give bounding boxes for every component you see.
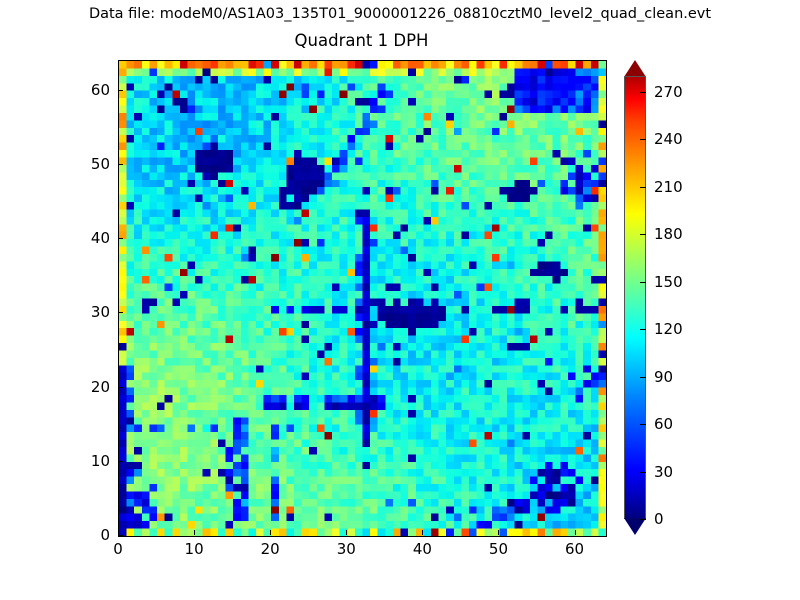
axes-title: Quadrant 1 DPH <box>118 31 605 50</box>
y-tick-label: 50 <box>70 155 110 173</box>
colorbar-tick-mark <box>640 187 646 188</box>
x-tick-mark <box>498 530 499 535</box>
colorbar-tick-label: 240 <box>654 130 683 148</box>
colorbar-tick-label: 270 <box>654 83 683 101</box>
x-tick-mark <box>270 530 271 535</box>
x-tick-label: 0 <box>113 540 123 558</box>
colorbar <box>624 60 648 535</box>
y-tick-label: 40 <box>70 229 110 247</box>
colorbar-tick-mark <box>640 92 646 93</box>
colorbar-tick-mark <box>640 139 646 140</box>
colorbar-tick-label: 150 <box>654 273 683 291</box>
colorbar-tick-mark <box>640 282 646 283</box>
x-tick-label: 20 <box>261 540 280 558</box>
colorbar-tick-label: 0 <box>654 510 664 528</box>
y-tick-label: 0 <box>70 526 110 544</box>
colorbar-tick-label: 180 <box>654 225 683 243</box>
colorbar-tick-label: 120 <box>654 320 683 338</box>
colorbar-tick-mark <box>640 377 646 378</box>
x-tick-label: 30 <box>337 540 356 558</box>
colorbar-tick-mark <box>640 424 646 425</box>
colorbar-tick-mark <box>640 519 646 520</box>
dph-heatmap-image <box>119 61 606 536</box>
dph-heatmap-axes <box>118 60 607 537</box>
x-tick-label: 50 <box>489 540 508 558</box>
x-tick-label: 40 <box>413 540 432 558</box>
y-tick-mark <box>118 90 123 91</box>
colorbar-extend-low-arrow <box>624 518 646 535</box>
colorbar-tick-label: 60 <box>654 415 673 433</box>
x-tick-mark <box>194 530 195 535</box>
x-tick-label: 10 <box>185 540 204 558</box>
y-tick-mark <box>118 461 123 462</box>
colorbar-tick-mark <box>640 329 646 330</box>
y-tick-label: 20 <box>70 378 110 396</box>
colorbar-tick-label: 30 <box>654 463 673 481</box>
y-tick-mark <box>118 238 123 239</box>
data-file-title: Data file: modeM0/AS1A03_135T01_90000012… <box>0 6 800 22</box>
colorbar-tick-mark <box>640 234 646 235</box>
x-tick-label: 60 <box>565 540 584 558</box>
matplotlib-figure: Data file: modeM0/AS1A03_135T01_90000012… <box>0 0 800 600</box>
y-tick-mark <box>118 164 123 165</box>
colorbar-tick-mark <box>640 472 646 473</box>
x-tick-mark <box>346 530 347 535</box>
x-tick-mark <box>575 530 576 535</box>
x-tick-mark <box>422 530 423 535</box>
colorbar-tick-label: 90 <box>654 368 673 386</box>
colorbar-gradient <box>624 76 646 519</box>
colorbar-tick-label: 210 <box>654 178 683 196</box>
colorbar-extend-high-arrow <box>624 60 646 77</box>
y-tick-label: 10 <box>70 452 110 470</box>
y-tick-label: 30 <box>70 303 110 321</box>
y-tick-mark <box>118 535 123 536</box>
y-tick-mark <box>118 312 123 313</box>
y-tick-mark <box>118 387 123 388</box>
y-tick-label: 60 <box>70 81 110 99</box>
